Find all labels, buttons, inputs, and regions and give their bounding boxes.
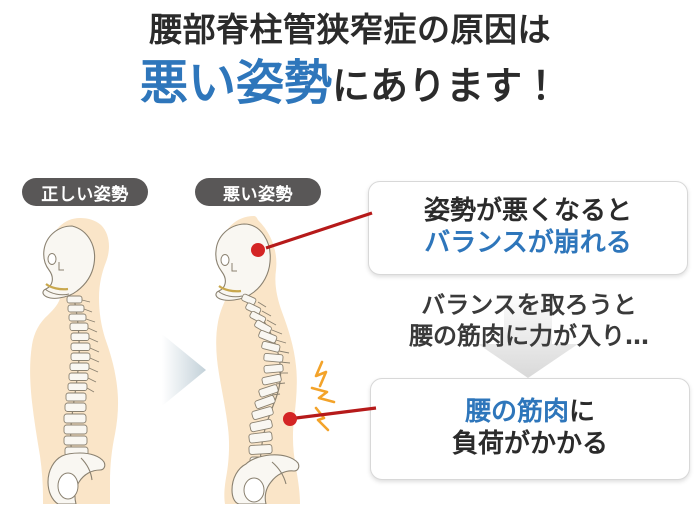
label-good-posture: 正しい姿勢 <box>22 178 148 206</box>
vertebra <box>70 323 88 331</box>
lumbar-vertebra <box>249 444 272 454</box>
vertebra <box>70 363 89 371</box>
thoracic-vertebra <box>264 353 284 362</box>
middle-line-2: 腰の筋肉に力が入り… <box>368 321 690 352</box>
callout-balance-line-2: バランスが崩れる <box>424 228 631 260</box>
good-posture-skeleton-figure <box>18 212 168 504</box>
pelvis-aperture <box>244 478 264 502</box>
vertebra <box>66 393 86 401</box>
infographic-canvas: 腰部脊柱管狭窄症の原因は 悪い姿勢にあります！ 正しい姿勢 悪い姿勢 <box>0 0 700 506</box>
middle-line-1: バランスを取ろうと <box>368 290 690 321</box>
middle-explanation-text: バランスを取ろうと 腰の筋肉に力が入り… <box>368 290 690 352</box>
callout-balance-line-1: 姿勢が悪くなると <box>424 196 632 228</box>
callout-load-line-2: 負荷がかかる <box>452 429 608 461</box>
pain-zigzag-icon <box>312 362 334 430</box>
vertebra <box>68 383 87 391</box>
vertebra <box>69 314 86 321</box>
vertebra <box>71 333 89 341</box>
vertebra <box>68 305 84 312</box>
title-line-2: 悪い姿勢にあります！ <box>0 55 700 112</box>
lumbar-vertebra <box>64 436 87 445</box>
title-tail: にあります！ <box>332 64 560 108</box>
callout-load-line-1-blue: 腰の筋肉 <box>465 397 569 427</box>
title-highlight: 悪い姿勢 <box>140 55 332 111</box>
label-bad-posture: 悪い姿勢 <box>195 178 321 206</box>
lumbar-vertebra <box>64 414 86 423</box>
callout-load-line-1-black: に <box>569 397 595 427</box>
vertebra <box>71 343 90 351</box>
pelvis-aperture <box>58 473 78 499</box>
bad-posture-skeleton-figure <box>196 212 356 504</box>
title-line-1: 腰部脊柱管狭窄症の原因は <box>0 10 700 51</box>
eye-socket <box>221 255 229 266</box>
thoracic-vertebra <box>264 364 284 373</box>
callout-balance: 姿勢が悪くなると バランスが崩れる <box>368 181 688 275</box>
vertebra <box>71 353 90 361</box>
vertebra <box>67 296 82 303</box>
callout-load: 腰の筋肉に 負荷がかかる <box>370 378 690 480</box>
eye-socket <box>48 254 56 265</box>
vertebra <box>65 403 86 412</box>
callout-load-line-1: 腰の筋肉に <box>465 397 595 429</box>
lumbar-vertebra <box>64 425 87 434</box>
vertebra <box>69 373 88 381</box>
page-title: 腰部脊柱管狭窄症の原因は 悪い姿勢にあります！ <box>0 10 700 112</box>
